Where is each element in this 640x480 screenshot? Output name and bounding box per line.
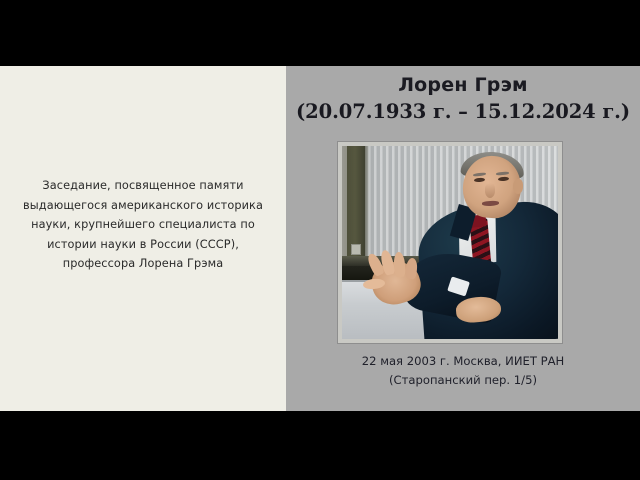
memorial-description-text: Заседание, посвященное памяти выдающегос… xyxy=(18,176,268,274)
slide-title-block: Лорен Грэм (20.07.1933 г. – 15.12.2024 г… xyxy=(286,72,640,125)
presentation-slide: Заседание, посвященное памяти выдающегос… xyxy=(0,66,640,411)
slide-right-panel: Лорен Грэм (20.07.1933 г. – 15.12.2024 г… xyxy=(286,66,640,411)
photo-caption-line-2: (Старопанский пер. 1/5) xyxy=(286,371,640,390)
portrait-photo xyxy=(342,146,558,339)
photo-caption-line-1: 22 мая 2003 г. Москва, ИИЕТ РАН xyxy=(362,354,564,368)
letterbox-bar-top xyxy=(0,0,640,66)
person-name-title: Лорен Грэм xyxy=(286,72,640,98)
photo-caption: 22 мая 2003 г. Москва, ИИЕТ РАН (Старопа… xyxy=(286,352,640,390)
portrait-photo-frame xyxy=(338,142,562,343)
photo-wall-socket xyxy=(351,244,361,255)
video-frame: Заседание, посвященное памяти выдающегос… xyxy=(0,0,640,480)
slide-left-panel: Заседание, посвященное памяти выдающегос… xyxy=(0,66,286,411)
letterbox-bar-bottom xyxy=(0,411,640,480)
person-life-dates: (20.07.1933 г. – 15.12.2024 г.) xyxy=(286,98,640,125)
